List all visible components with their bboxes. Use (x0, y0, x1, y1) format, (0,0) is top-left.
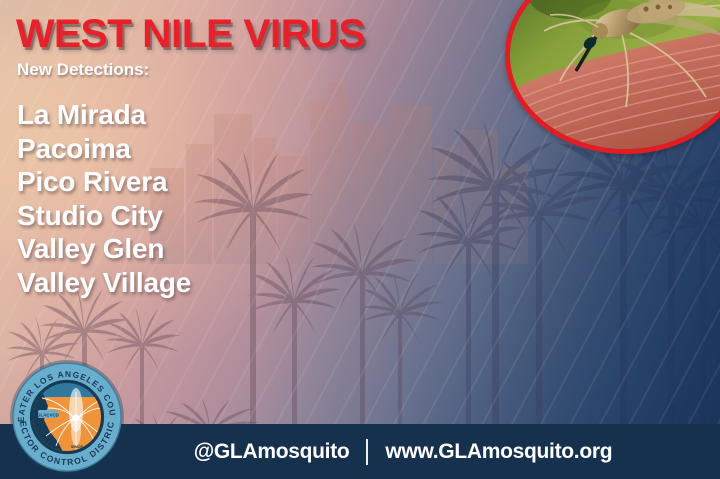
list-item: La Mirada (17, 98, 347, 132)
new-detections-list: La Mirada Pacoima Pico Rivera Studio Cit… (17, 98, 347, 299)
social-handle[interactable]: @GLAmosquito (194, 440, 350, 464)
vector-control-district-logo: GLACVCD SINCE 1952 (8, 358, 126, 476)
list-item: Valley Glen (17, 232, 347, 266)
mosquito-photo-image (510, 0, 720, 149)
seal-graphic: GLACVCD SINCE 1952 (8, 358, 126, 476)
list-item: Valley Village (17, 266, 347, 300)
list-item: Pico Rivera (17, 165, 347, 199)
list-item: Pacoima (17, 132, 347, 166)
list-item: Studio City (17, 199, 347, 233)
website-url[interactable]: www.GLAmosquito.org (385, 440, 612, 464)
footer-divider (366, 439, 368, 465)
subtitle: New Detections: (17, 60, 149, 80)
page-title: WEST NILE VIRUS (16, 12, 365, 57)
seal-abbreviation-text: GLACVCD (37, 412, 59, 417)
west-nile-virus-poster: WEST NILE VIRUS New Detections: La Mirad… (0, 0, 720, 479)
